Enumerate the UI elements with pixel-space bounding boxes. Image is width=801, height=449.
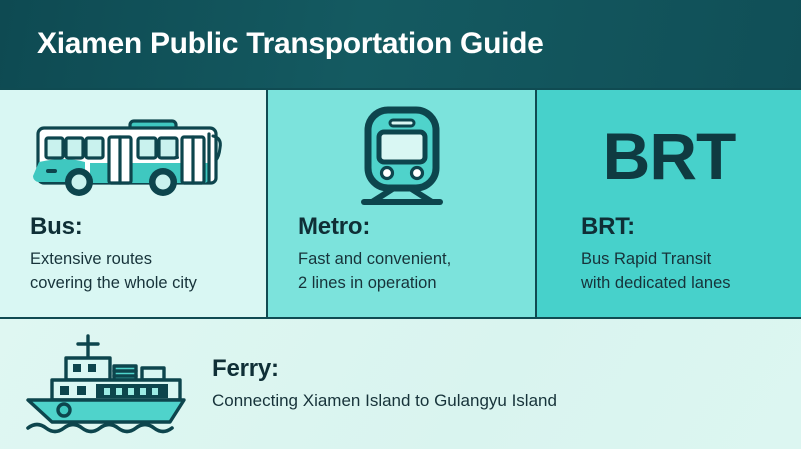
panel-brt-description: Bus Rapid Transit with dedicated lanes [581,248,793,295]
panel-metro-text: Metro: Fast and convenient, 2 lines in o… [298,214,527,295]
panel-ferry-text: Ferry: Connecting Xiamen Island to Gulan… [212,356,557,412]
panel-ferry[interactable]: Ferry: Connecting Xiamen Island to Gulan… [0,319,801,449]
panel-ferry-description: Connecting Xiamen Island to Gulangyu Isl… [212,390,557,412]
infographic-root: Xiamen Public Transportation Guide [0,0,801,449]
panel-bus-text: Bus: Extensive routes covering the whole… [30,214,258,295]
panel-bus-heading: Bus: [30,214,258,240]
ferry-ship-icon [12,330,202,438]
panel-metro-description: Fast and convenient, 2 lines in operatio… [298,248,527,295]
panel-metro-heading: Metro: [298,214,527,240]
panel-ferry-heading: Ferry: [212,356,557,382]
brt-label-large: BRT [603,123,736,189]
bus-icon [0,104,266,208]
header-banner: Xiamen Public Transportation Guide [0,0,801,88]
panel-bus[interactable]: Bus: Extensive routes covering the whole… [0,88,266,319]
metro-train-icon [268,104,535,208]
panel-bus-description: Extensive routes covering the whole city [30,248,258,295]
transport-panel-row: Bus: Extensive routes covering the whole… [0,88,801,319]
panel-brt[interactable]: BRT BRT: Bus Rapid Transit with dedicate… [535,88,801,319]
panel-brt-text: BRT: Bus Rapid Transit with dedicated la… [581,214,793,295]
page-title: Xiamen Public Transportation Guide [37,29,544,59]
panel-brt-heading: BRT: [581,214,793,240]
brt-text-mark: BRT [537,104,801,208]
panel-metro[interactable]: Metro: Fast and convenient, 2 lines in o… [266,88,535,319]
